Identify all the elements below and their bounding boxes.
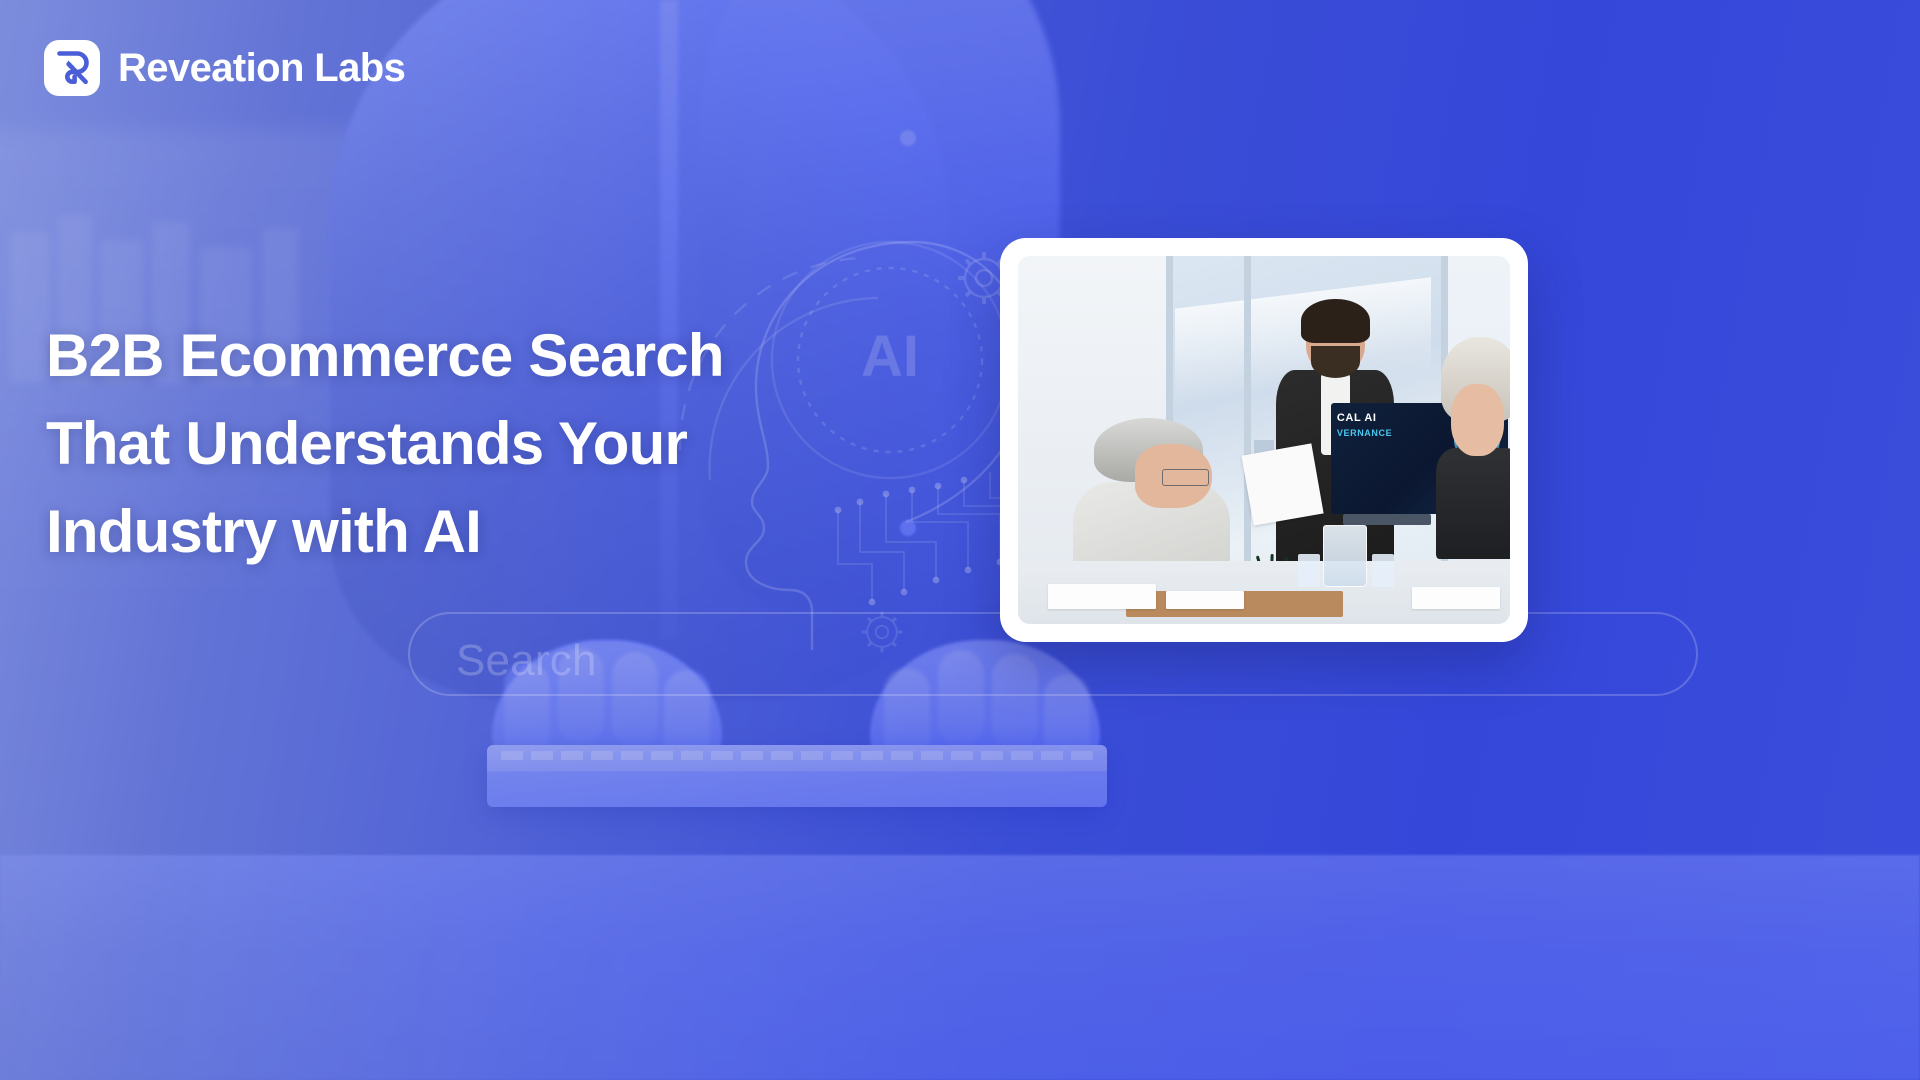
brand-logo[interactable]: Reveation Labs bbox=[44, 40, 405, 96]
photo-water-jug bbox=[1323, 525, 1367, 588]
headline-line-3: Industry with AI bbox=[46, 488, 926, 576]
meeting-room-photo: CAL AI VERNANCE AI bbox=[1018, 256, 1510, 624]
headline-line-1: B2B Ecommerce Search bbox=[46, 312, 926, 400]
monitor-stand bbox=[1343, 514, 1432, 525]
ghost-desk-surface bbox=[0, 855, 1920, 1080]
ghost-shirt-button bbox=[900, 130, 916, 146]
search-placeholder-text: Search bbox=[456, 636, 597, 686]
photo-person-right bbox=[1441, 337, 1510, 550]
hero-photo-card: CAL AI VERNANCE AI bbox=[1000, 238, 1528, 642]
reveation-logo-mark bbox=[44, 40, 100, 96]
photo-water-glass bbox=[1298, 554, 1320, 587]
photo-water-glass bbox=[1372, 554, 1394, 587]
photo-document bbox=[1166, 591, 1245, 609]
headline-line-2: That Understands Your bbox=[46, 400, 926, 488]
keyboard-icon bbox=[487, 745, 1107, 807]
monitor-text-line-1: CAL AI bbox=[1337, 412, 1377, 424]
ghost-book bbox=[10, 232, 50, 382]
page-title: B2B Ecommerce Search That Understands Yo… bbox=[46, 312, 926, 576]
brand-name: Reveation Labs bbox=[118, 46, 405, 91]
hero-banner: AI Search Reveation Labs B2B Ecommerce S… bbox=[0, 0, 1920, 1080]
photo-document bbox=[1412, 587, 1501, 609]
monitor-text-line-2: VERNANCE bbox=[1337, 428, 1392, 438]
photo-document bbox=[1048, 584, 1156, 610]
